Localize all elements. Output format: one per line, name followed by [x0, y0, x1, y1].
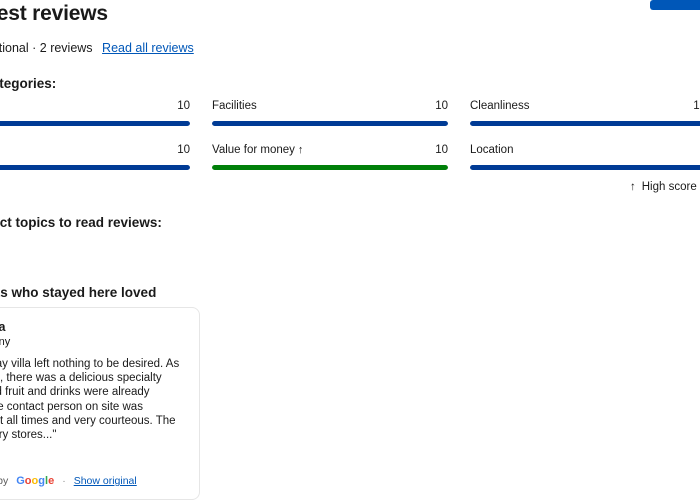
top-right-action-button[interactable] [650, 0, 700, 10]
category-score-head: Value for money↑ 10 [212, 144, 448, 160]
score-bar-track [0, 165, 190, 170]
score-bar-track [470, 121, 700, 126]
footer-divider: · [62, 475, 66, 487]
reviewer-name: Alexandra [0, 320, 185, 334]
category-score-staff: Staff 10 [0, 100, 190, 144]
category-score-row: Staff 10 Facilities 10 Cleanliness [0, 100, 700, 144]
category-value: 10 [435, 100, 448, 112]
review-count: 2 reviews [40, 41, 93, 55]
category-name: Value for money↑ [212, 144, 303, 156]
guest-reviews-panel: Guest reviews Exceptional · 2 reviews Re… [0, 0, 700, 500]
translated-by-label: Translated by [0, 475, 8, 487]
guests-loved-label: Guests who stayed here loved [0, 285, 156, 300]
category-score-facilities: Facilities 10 [212, 100, 448, 144]
score-bar-fill [212, 121, 448, 126]
category-value: 10 [177, 144, 190, 156]
show-original-link[interactable]: Show original [74, 475, 137, 487]
category-score-head: Facilities 10 [212, 100, 448, 116]
page-title: Guest reviews [0, 2, 108, 26]
review-card-footer: Translated by Google · Show original [0, 475, 185, 487]
review-text: "Our holiday villa left nothing to be de… [0, 357, 185, 442]
score-bar-fill [212, 165, 448, 170]
category-name: Facilities [212, 100, 257, 112]
read-all-reviews-link[interactable]: Read all reviews [102, 41, 194, 55]
category-value: 10 [177, 100, 190, 112]
category-score-row: Comfort 10 Value for money↑ 10 [0, 144, 700, 188]
review-card[interactable]: Alexandra Germany "Our holiday villa lef… [0, 307, 200, 500]
legend-arrow-icon: ↑ [630, 181, 636, 193]
score-bar-track [212, 165, 448, 170]
category-name: Cleanliness [470, 100, 529, 112]
category-name: Location [470, 144, 513, 156]
score-bar-track [212, 121, 448, 126]
category-score-head: Location [470, 144, 700, 160]
category-name-text: Value for money [212, 144, 295, 156]
category-value: 10 [693, 100, 700, 112]
category-score-cleanliness: Cleanliness 10 [470, 100, 700, 144]
category-scores-grid: Staff 10 Facilities 10 Cleanliness [0, 100, 700, 188]
category-value: 10 [435, 144, 448, 156]
category-score-value-for-money: Value for money↑ 10 [212, 144, 448, 188]
high-score-arrow-icon: ↑ [298, 144, 304, 156]
select-topics-label: Select topics to read reviews: [0, 215, 162, 230]
category-score-head: Cleanliness 10 [470, 100, 700, 116]
score-bar-track [0, 121, 190, 126]
reviewer-location: Germany [0, 336, 185, 348]
rating-word: Exceptional [0, 41, 29, 55]
score-bar-fill [470, 121, 700, 126]
google-logo-icon: Google [16, 475, 54, 487]
high-score-legend: ↑High score for [630, 181, 700, 193]
review-more-link[interactable]: More [0, 451, 185, 463]
score-bar-fill [0, 165, 190, 170]
category-score-head: Comfort 10 [0, 144, 190, 160]
reviewer-country: Germany [0, 336, 10, 348]
score-bar-track [470, 165, 700, 170]
rating-summary: Exceptional · 2 reviews Read all reviews [0, 41, 194, 55]
category-score-head: Staff 10 [0, 100, 190, 116]
score-bar-fill [470, 165, 700, 170]
category-score-comfort: Comfort 10 [0, 144, 190, 188]
score-bar-fill [0, 121, 190, 126]
legend-label: High score for [642, 181, 700, 193]
categories-label: Categories: [0, 76, 56, 91]
summary-separator: · [32, 41, 36, 55]
